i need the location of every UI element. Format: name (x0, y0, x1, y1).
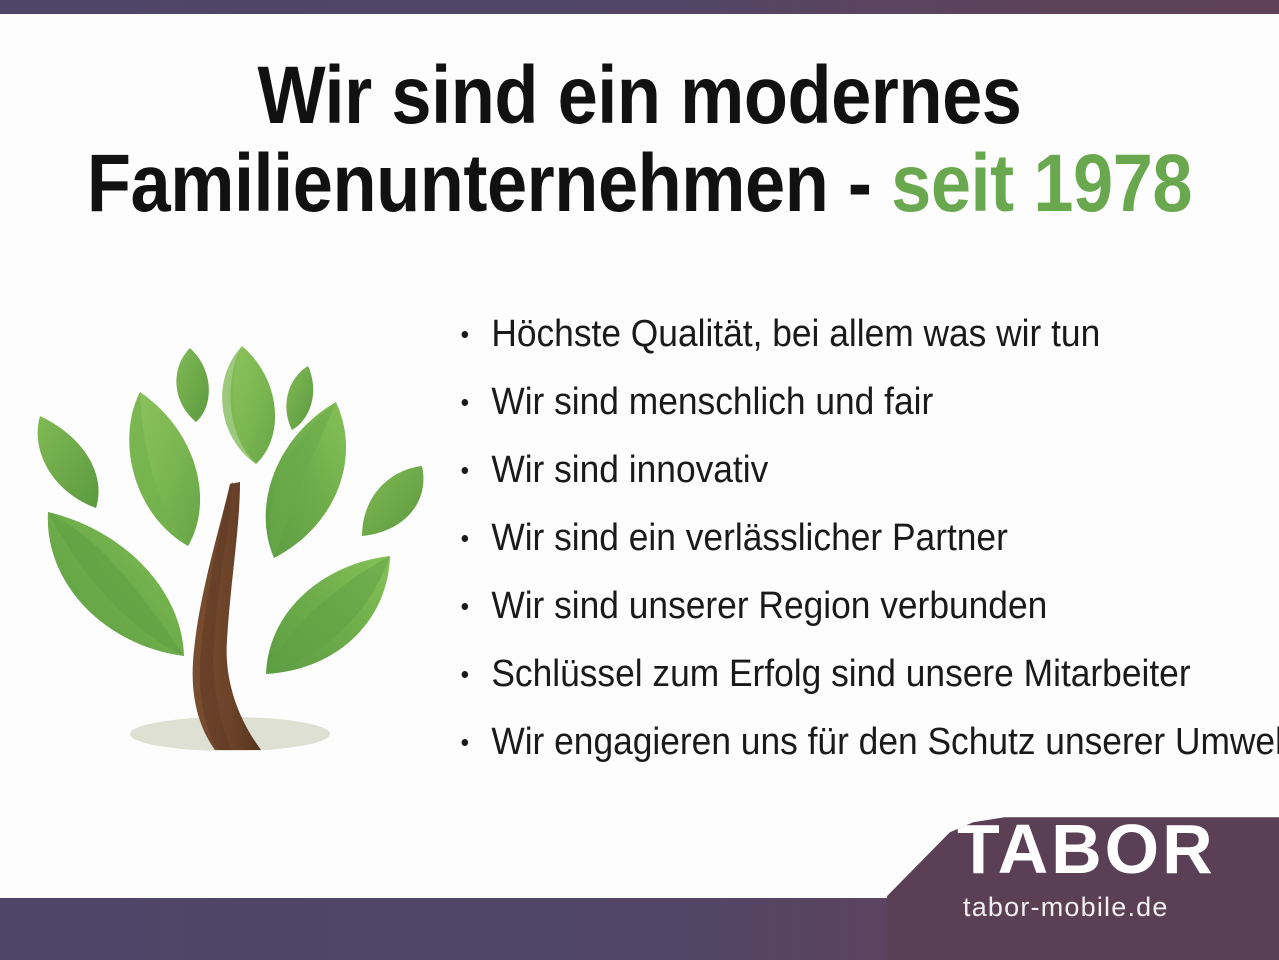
tree-leaf-top-right (286, 366, 313, 430)
page-title: Wir sind ein modernes Familienunternehme… (77, 52, 1203, 228)
bullet-dot-icon (462, 467, 469, 474)
list-item-label: Höchste Qualität, bei allem was wir tun (491, 313, 1100, 355)
bullet-dot-icon (462, 739, 469, 746)
tree-leaf-lower-left (48, 512, 184, 656)
list-item-label: Schlüssel zum Erfolg sind unsere Mitarbe… (491, 653, 1190, 695)
bullet-dot-icon (462, 603, 469, 610)
list-item-label: Wir sind ein verlässlicher Partner (491, 517, 1008, 559)
tree-leaf-lower-right (266, 556, 390, 674)
list-item: Höchste Qualität, bei allem was wir tun (456, 300, 1209, 368)
tabor-tagline: tabor-mobile.de (963, 892, 1169, 922)
bullet-dot-icon (462, 671, 469, 678)
list-item: Wir sind unserer Region verbunden (456, 572, 1209, 640)
tree-leaf-upper-right (266, 402, 346, 558)
bullet-dot-icon (462, 331, 469, 338)
list-item: Wir engagieren uns für den Schutz unsere… (456, 708, 1209, 776)
list-item-label: Wir sind menschlich und fair (491, 381, 933, 423)
tree-leaf-far-left (38, 416, 99, 508)
list-item: Wir sind innovativ (456, 436, 1209, 504)
tree-leaf-far-right (362, 466, 423, 536)
list-item-label: Wir sind innovativ (491, 449, 768, 491)
bullet-dot-icon (462, 399, 469, 406)
top-accent-bar (0, 0, 1279, 14)
list-item: Wir sind ein verlässlicher Partner (456, 504, 1209, 572)
slide-canvas: Wir sind ein modernes Familienunternehme… (0, 0, 1279, 960)
list-item: Schlüssel zum Erfolg sind unsere Mitarbe… (456, 640, 1209, 708)
page-title-accent: seit 1978 (891, 138, 1192, 229)
bullet-dot-icon (462, 535, 469, 542)
stylized-tree-illustration (18, 330, 442, 762)
list-item: Wir sind menschlich und fair (456, 368, 1209, 436)
tree-leaf-top-center (222, 346, 275, 464)
list-item-label: Wir engagieren uns für den Schutz unsere… (491, 721, 1279, 763)
tree-leaf-top-left (176, 348, 208, 422)
page-title-line-1: Wir sind ein modernes (77, 52, 1203, 140)
page-title-line-2: Familienunternehmen - seit 1978 (77, 140, 1203, 228)
tabor-logo-badge[interactable]: TABOR tabor-mobile.de (887, 792, 1279, 960)
tabor-wordmark: TABOR (957, 814, 1216, 884)
value-list: Höchste Qualität, bei allem was wir tun … (456, 300, 1266, 776)
list-item-label: Wir sind unserer Region verbunden (491, 585, 1047, 627)
page-title-line-2-main: Familienunternehmen - (87, 138, 891, 229)
